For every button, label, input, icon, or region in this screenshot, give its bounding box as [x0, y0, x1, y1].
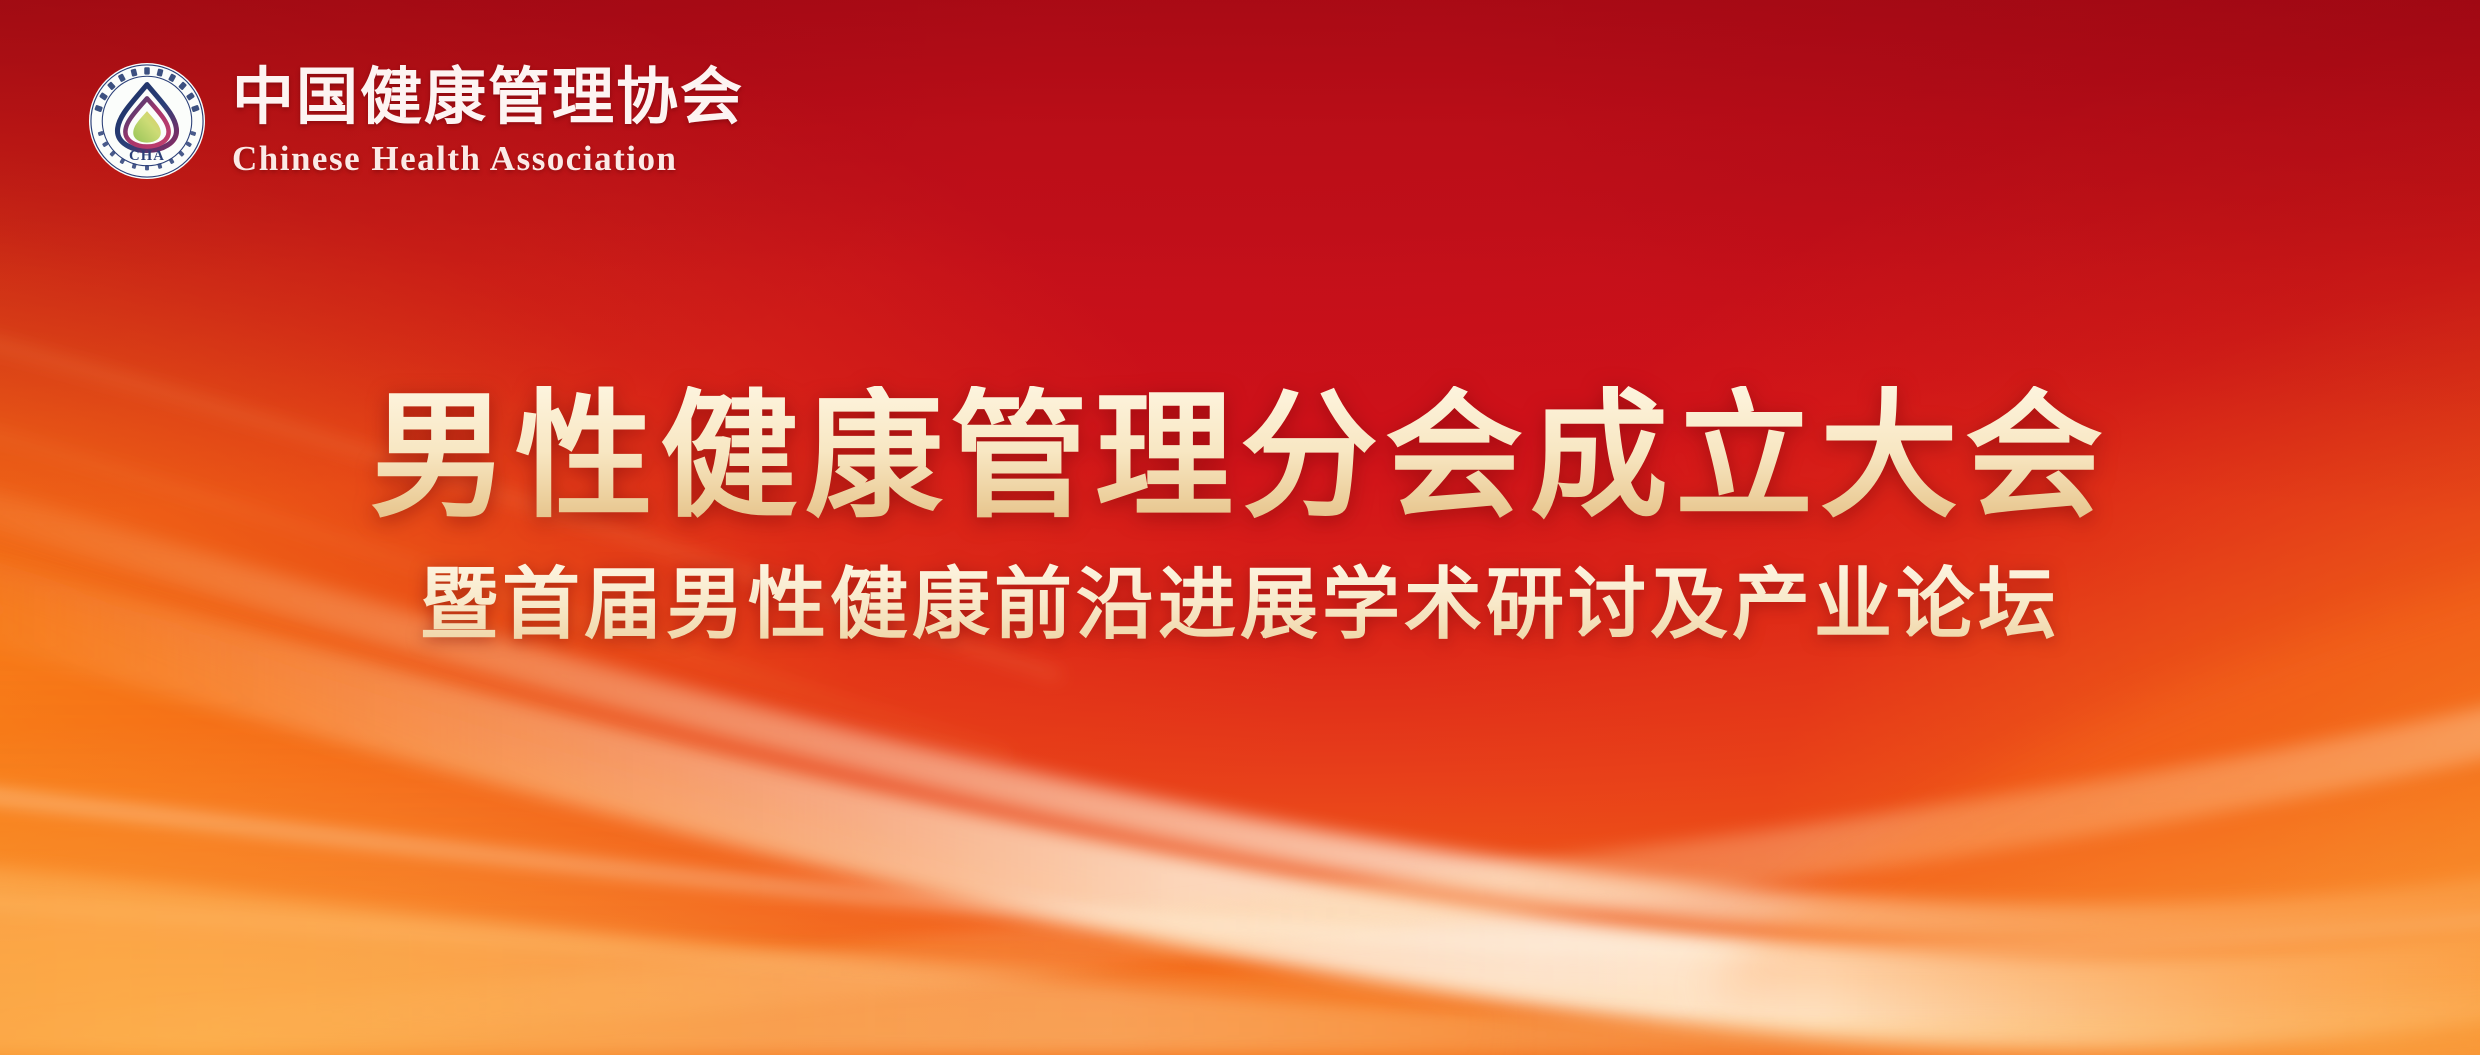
cha-emblem-icon: CHA — [88, 62, 206, 180]
logo-text-group: 中国健康管理协会 Chinese Health Association — [232, 67, 744, 176]
association-logo: CHA 中国健康管理协会 Chinese Health Association — [88, 62, 744, 180]
emblem-initials-text: CHA — [129, 148, 165, 164]
headline-block: 男性健康管理分会成立大会 暨首届男性健康前沿进展学术研讨及产业论坛 — [0, 386, 2480, 648]
logo-name-en: Chinese Health Association — [232, 141, 744, 176]
conference-banner: CHA 中国健康管理协会 Chinese Health Association … — [0, 0, 2480, 1055]
event-title: 男性健康管理分会成立大会 — [0, 386, 2480, 531]
event-subtitle: 暨首届男性健康前沿进展学术研讨及产业论坛 — [0, 561, 2480, 648]
logo-name-cn: 中国健康管理协会 — [232, 67, 744, 129]
